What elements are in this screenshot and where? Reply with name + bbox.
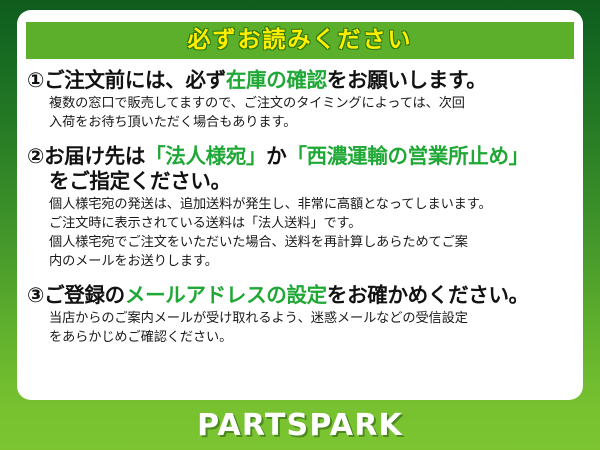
notice-item-2-subtext: 個人様宅宛の発送は、追加送料が発生し、非常に高額となってしまいます。 ご注文時に… — [49, 196, 575, 271]
notice-item-2-part-0: お届け先は — [44, 144, 145, 168]
notice-item-1-headline: ①ご注文前には、必ず在庫の確認をお願いします。 — [27, 68, 575, 93]
footer: PARTSPARK — [0, 400, 600, 450]
notice-item-3: ③ご登録のメールアドレスの設定をお確かめください。 当店からのご案内メールが受け… — [27, 283, 575, 347]
notice-banner: 必ずお読みください ①ご注文前には、必ず在庫の確認をお願いします。 複数の窓口で… — [0, 0, 600, 450]
notice-item-3-number: ③ — [27, 283, 44, 307]
notice-item-3-part-1-highlight: メールアドレスの設定 — [125, 283, 327, 307]
notice-item-1-part-2: をお願いします。 — [327, 68, 487, 92]
notice-item-3-subline-0: 当店からのご案内メールが受け取れるよう、迷惑メールなどの受信設定 — [49, 310, 575, 329]
notice-item-2-part-2: か — [266, 144, 286, 168]
notice-item-2-subline-1: ご注文時に表示されている送料は「法人送料」です。 — [49, 215, 575, 234]
header-bar: 必ずお読みください — [26, 22, 574, 59]
notice-item-1-subline-0: 複数の窓口で販売してますので、ご注文のタイミングによっては、次回 — [49, 95, 575, 114]
notice-item-2-part-3-highlight: 「西濃運輸の営業所止め」 — [286, 144, 528, 168]
notice-item-2-number: ② — [27, 144, 44, 168]
notice-item-2-subline-2: 個人様宅宛でご注文をいただいた場合、送料を再計算しあらためてご案 — [49, 234, 575, 253]
notice-item-3-part-2: をお確かめください。 — [327, 283, 529, 307]
notice-item-2-subline-0: 個人様宅宛の発送は、追加送料が発生し、非常に高額となってしまいます。 — [49, 196, 575, 215]
notice-item-1-number: ① — [27, 68, 44, 92]
notice-item-1-subline-1: 入荷をお待ち頂いただく場合もあります。 — [49, 114, 575, 133]
notice-item-1: ①ご注文前には、必ず在庫の確認をお願いします。 複数の窓口で販売してますので、ご… — [27, 68, 575, 132]
notice-item-2-headline: ②お届け先は「法人様宛」か「西濃運輸の営業所止め」 — [27, 144, 575, 169]
partspark-logo: PARTSPARK — [197, 408, 403, 443]
notice-item-2: ②お届け先は「法人様宛」か「西濃運輸の営業所止め」 をご指定ください。 個人様宅… — [27, 144, 575, 271]
notice-card: 必ずお読みください ①ご注文前には、必ず在庫の確認をお願いします。 複数の窓口で… — [17, 10, 583, 400]
notice-item-3-subline-1: をあらかじめご確認ください。 — [49, 329, 575, 348]
notice-item-2-headline-line2: をご指定ください。 — [49, 169, 575, 194]
notice-item-1-subtext: 複数の窓口で販売してますので、ご注文のタイミングによっては、次回 入荷をお待ち頂… — [49, 95, 575, 132]
notice-item-3-headline: ③ご登録のメールアドレスの設定をお確かめください。 — [27, 283, 575, 308]
notice-item-3-subtext: 当店からのご案内メールが受け取れるよう、迷惑メールなどの受信設定 をあらかじめご… — [49, 310, 575, 347]
notice-item-1-part-0: ご注文前には、必ず — [44, 68, 226, 92]
header-title: 必ずお読みください — [188, 29, 413, 52]
notice-item-2-part-1-highlight: 「法人様宛」 — [145, 144, 266, 168]
notice-item-3-part-0: ご登録の — [44, 283, 125, 307]
notice-item-2-subline-3: 内のメールをお送りします。 — [49, 253, 575, 272]
notice-content: ①ご注文前には、必ず在庫の確認をお願いします。 複数の窓口で販売してますので、ご… — [17, 68, 583, 353]
notice-item-1-part-1-highlight: 在庫の確認 — [226, 68, 327, 92]
